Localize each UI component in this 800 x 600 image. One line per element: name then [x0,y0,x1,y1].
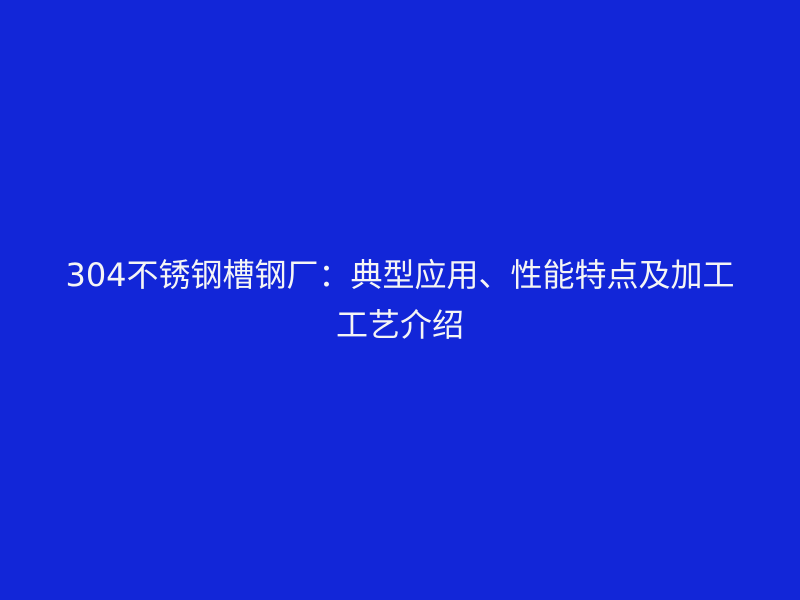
title-block: 304不锈钢槽钢厂：典型应用、性能特点及加工工艺介绍 [60,250,740,350]
title-card: 304不锈钢槽钢厂：典型应用、性能特点及加工工艺介绍 [0,0,800,600]
page-title: 304不锈钢槽钢厂：典型应用、性能特点及加工工艺介绍 [60,250,740,350]
